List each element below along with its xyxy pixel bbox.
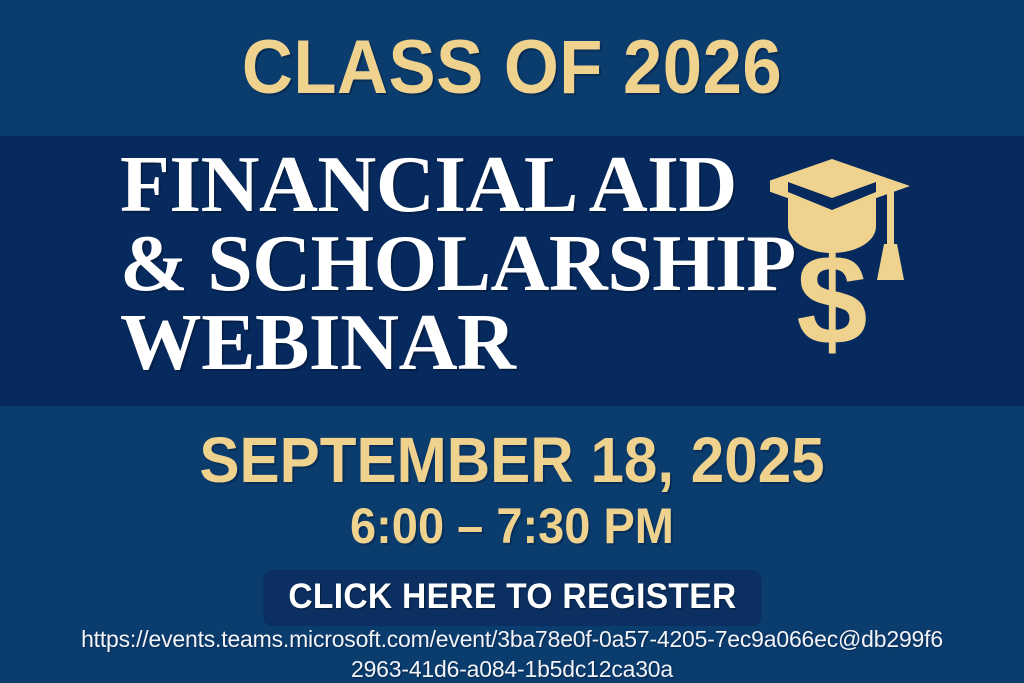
title-line-3: WEBINAR (120, 304, 793, 383)
tassel-bell-icon (877, 244, 904, 280)
tassel-cord-icon (887, 186, 894, 246)
event-time: 6:00 – 7:30 PM (31, 497, 994, 555)
register-button[interactable]: CLICK HERE TO REGISTER (263, 570, 761, 626)
class-year-eyebrow: CLASS OF 2026 (36, 26, 988, 110)
registration-url-line-2[interactable]: 2963-41d6-a084-1b5dc12ca30a (0, 654, 1024, 683)
title-line-1: FINANCIAL AID (120, 146, 793, 225)
title-line-2: & SCHOLARSHIP (120, 225, 793, 304)
registration-url[interactable]: https://events.teams.microsoft.com/event… (0, 624, 1024, 683)
webinar-flyer: CLASS OF 2026 FINANCIAL AID & SCHOLARSHI… (0, 0, 1024, 683)
event-date: SEPTEMBER 18, 2025 (31, 424, 994, 496)
registration-url-line-1[interactable]: https://events.teams.microsoft.com/event… (0, 624, 1024, 654)
register-button-container: CLICK HERE TO REGISTER (0, 570, 1024, 626)
graduation-cap-icon: $ (770, 148, 920, 358)
dollar-sign-icon: $ (796, 229, 867, 358)
page-title: FINANCIAL AID & SCHOLARSHIP WEBINAR (120, 146, 780, 383)
